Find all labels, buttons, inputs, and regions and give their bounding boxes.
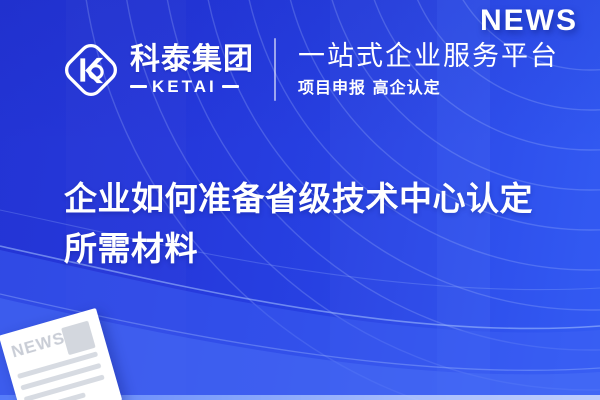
brand-logo[interactable]: 科泰集团 KETAI xyxy=(60,39,254,101)
news-banner: NEWS 科泰集团 KETA xyxy=(0,0,600,400)
brand-name-cn: 科泰集团 xyxy=(130,44,254,76)
brand-name-en: KETAI xyxy=(152,78,217,95)
article-title: 企业如何准备省级技术中心认定所需材料 xyxy=(64,174,564,274)
ketai-monogram-icon xyxy=(60,39,122,101)
brand-wordmark: 科泰集团 KETAI xyxy=(130,44,254,96)
header-divider xyxy=(274,38,276,101)
banner-header: 科泰集团 KETAI 一站式企业服务平台 项目申报 高企认定 xyxy=(60,38,559,101)
news-badge: NEWS xyxy=(480,6,578,36)
tagline-secondary: 项目申报 高企认定 xyxy=(298,78,559,97)
tagline-block: 一站式企业服务平台 项目申报 高企认定 xyxy=(298,42,559,96)
dash-left-icon xyxy=(130,85,147,88)
tagline-primary: 一站式企业服务平台 xyxy=(298,42,559,72)
dash-right-icon xyxy=(222,85,239,88)
brand-name-en-row: KETAI xyxy=(130,78,254,95)
